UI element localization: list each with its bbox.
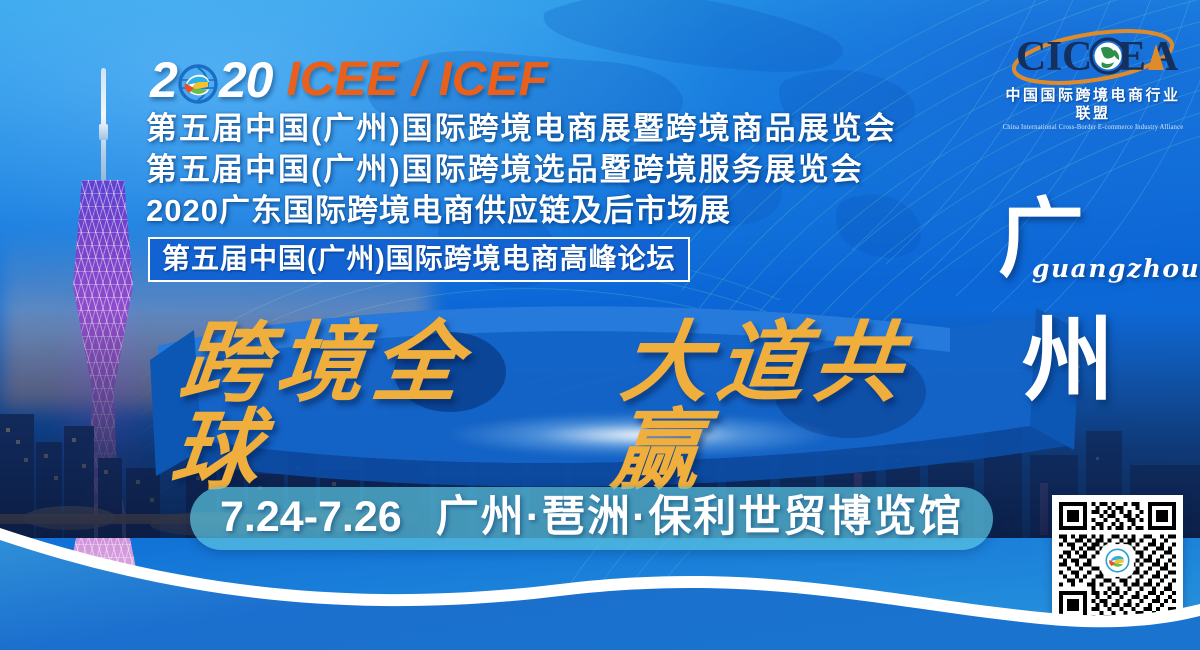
title-row: 2 20 ICEE / ICEF <box>150 52 1006 108</box>
slogan-part-2: 大道共赢 <box>608 318 1005 494</box>
cicea-logo: C I C E A 中国国际跨境电商行业联盟 China Internation… <box>998 24 1188 122</box>
year-last-digits: 20 <box>219 55 273 105</box>
year-logo: 2 20 <box>150 55 272 105</box>
svg-text:E: E <box>1118 34 1148 80</box>
cicea-name-cn: 中国国际跨境电商行业联盟 <box>998 87 1188 123</box>
exhibition-line-2: 第五届中国(广州)国际跨境选品暨跨境服务展览会 <box>146 149 1006 190</box>
forum-line: 第五届中国(广州)国际跨境电商高峰论坛 <box>162 242 676 276</box>
exhibition-line-1: 第五届中国(广州)国际跨境电商展暨跨境商品展览会 <box>146 108 1006 149</box>
guangzhou-calligraphy: 广 guangzhou 州 <box>992 196 1172 436</box>
cicea-name-en: China International Cross-Border E-comme… <box>998 123 1188 134</box>
guangzhou-char-2: 州 <box>1022 314 1114 406</box>
event-banner: 2 20 ICEE / ICEF 第五届中国(广州 <box>0 0 1200 650</box>
forum-highlight-box: 第五届中国(广州)国际跨境电商高峰论坛 <box>148 237 690 282</box>
white-wave-divider <box>0 500 1200 650</box>
header-block: 2 20 ICEE / ICEF 第五届中国(广州 <box>146 52 1006 282</box>
svg-text:C: C <box>1016 34 1048 80</box>
slogan-part-1: 跨境全球 <box>167 318 564 494</box>
slogan-calligraphy: 跨境全球 大道共赢 <box>176 318 996 494</box>
e-globe-icon <box>178 62 218 102</box>
year-first-digit: 2 <box>150 55 177 105</box>
exhibition-line-3: 2020广东国际跨境电商供应链及后市场展 <box>146 190 1006 231</box>
tower-spire <box>101 68 106 186</box>
guangzhou-pinyin: guangzhou <box>1032 254 1200 283</box>
cicea-logo-icon: C I C E A <box>998 24 1188 86</box>
brand-title: ICEE / ICEF <box>286 56 547 104</box>
